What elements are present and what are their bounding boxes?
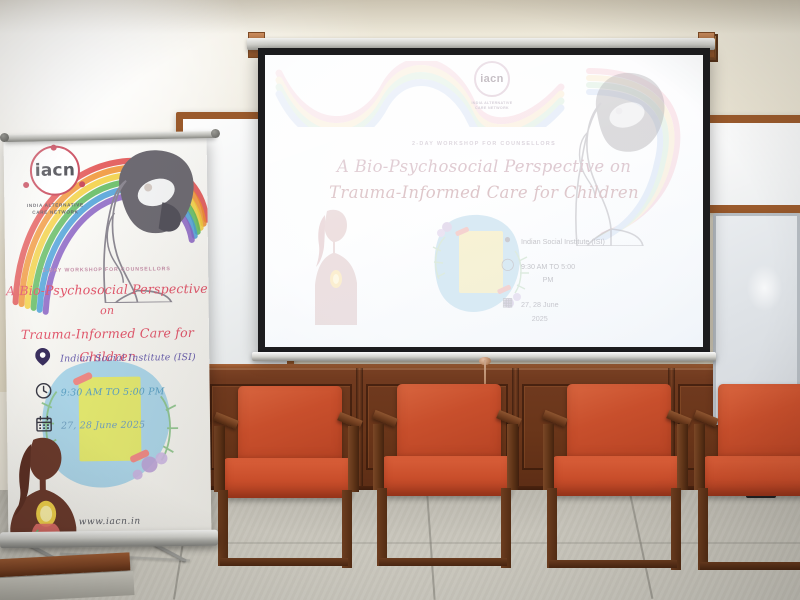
banner-meta-venue-text: Indian Social Institute (ISI)	[60, 351, 196, 364]
banner-meta-date-text: 27, 28 June 2025	[61, 419, 145, 431]
slide-meta-time-line2: PM	[543, 275, 554, 284]
slide-logo: iacn INDIA ALTERNATIVECARE NETWORK	[461, 61, 523, 112]
iacn-logo-text: iacn	[480, 73, 504, 85]
banner-meta-time-text: 9:30 AM TO 5:00 PM	[61, 386, 165, 398]
banner-base-cassette	[0, 530, 218, 549]
banner-title-line1: A Bio-Psychosocial Perspective	[5, 277, 208, 303]
banner-meta-venue: Indian Social Institute (ISI)	[34, 346, 206, 370]
iacn-logo-mark: iacn	[474, 61, 510, 97]
rollup-banner: iacn INDIA ALTERNATIVECARE NETWORK 2-DAY…	[4, 138, 212, 540]
chair-leg-front-left	[377, 488, 387, 566]
calendar-icon: ▦	[501, 296, 514, 308]
chair	[541, 384, 701, 598]
chair-backrest	[718, 384, 800, 462]
logo-dot-top	[51, 145, 57, 151]
chair-stretcher	[220, 558, 348, 566]
slide-meta-date-line2: 2025	[532, 314, 548, 323]
slide-meta-date-text: 27, 28 June 2025	[521, 296, 559, 325]
chair-leg-front-left	[547, 488, 557, 568]
slide-meta-block: ● Indian Social Institute (ISI) ◯ 9:30 A…	[501, 233, 687, 334]
slide-meta-venue: ● Indian Social Institute (ISI)	[501, 233, 687, 249]
wall-mounted-whiteboard	[700, 115, 800, 213]
projection-screen: iacn INDIA ALTERNATIVECARE NETWORK 2-DAY…	[258, 48, 710, 354]
chair-post-left	[694, 424, 705, 490]
photo-scene: iacn INDIA ALTERNATIVECARE NETWORK 2-DAY…	[0, 0, 800, 600]
chair-leg-front-left	[218, 490, 228, 566]
girl-silhouette-illustration	[309, 205, 363, 325]
banner-meta-date: 27, 28 June 2025	[35, 414, 207, 436]
chair-seat	[383, 456, 511, 496]
iacn-logo-subtitle: INDIA ALTERNATIVECARE NETWORK	[16, 201, 94, 217]
location-pin-icon: ●	[501, 233, 514, 245]
logo-dot-left	[23, 182, 29, 188]
clock-icon	[35, 383, 52, 403]
chair-seat	[553, 456, 681, 496]
chair-post-left	[373, 424, 384, 490]
slide-title: A Bio-Psychosocial Perspective on Trauma…	[265, 154, 703, 205]
chair-backrest	[567, 384, 671, 462]
calendar-icon	[35, 416, 52, 436]
chair	[212, 386, 372, 600]
chair-leg-front-right	[342, 490, 352, 568]
slide-meta-time: ◯ 9:30 AM TO 5:00 PM	[501, 258, 687, 287]
slide-meta-venue-text: Indian Social Institute (ISI)	[521, 233, 605, 249]
banner-logo: iacn INDIA ALTERNATIVECARE NETWORK	[16, 145, 95, 217]
iacn-logo-subtitle: INDIA ALTERNATIVECARE NETWORK	[461, 101, 523, 112]
slide-title-line1: A Bio-Psychosocial Perspective on	[265, 154, 703, 180]
chair-leg-front-left	[698, 488, 708, 570]
chair-stretcher	[379, 558, 507, 566]
chair-seat	[704, 456, 800, 496]
chair-stretcher	[700, 562, 800, 570]
location-pin-icon	[34, 348, 51, 370]
chair-seat	[224, 458, 352, 498]
logo-dot-right	[79, 181, 85, 187]
chair-leg-front-right	[671, 488, 681, 570]
chair-post-left	[214, 426, 225, 492]
clock-icon: ◯	[501, 258, 514, 270]
chair	[371, 384, 531, 598]
banner-meta-time: 9:30 AM TO 5:00 PM	[35, 381, 207, 403]
ceiling-shadow	[0, 0, 800, 34]
iacn-logo-text: iacn	[35, 160, 76, 180]
screen-surface: iacn INDIA ALTERNATIVECARE NETWORK 2-DAY…	[265, 55, 703, 347]
slide-meta-time-text: 9:30 AM TO 5:00 PM	[521, 258, 575, 287]
banner-title-line2: on	[6, 300, 209, 323]
chair-stretcher	[549, 560, 677, 568]
banner-meta-block: Indian Social Institute (ISI) 9:30 AM TO…	[34, 346, 207, 449]
chair-post-right	[507, 424, 518, 490]
slide-title-line2: Trauma-Informed Care for Children	[265, 180, 703, 206]
chair-leg-front-right	[501, 488, 511, 568]
chair-backrest	[397, 384, 501, 462]
slide-meta-date-line1: 27, 28 June	[521, 300, 559, 309]
chair-post-right	[348, 426, 359, 492]
slide-meta-time-line1: 9:30 AM TO 5:00	[521, 262, 575, 271]
chair-post-left	[543, 424, 554, 490]
slide-eyebrow: 2-DAY WORKSHOP FOR COUNSELLORS	[265, 141, 703, 147]
banner-website-url: www.iacn.in	[8, 516, 211, 528]
chair-post-right	[677, 424, 688, 490]
chair	[692, 384, 800, 598]
chair-backrest	[238, 386, 342, 464]
slide-meta-date: ▦ 27, 28 June 2025	[501, 296, 687, 325]
iacn-logo-mark: iacn	[30, 145, 81, 196]
